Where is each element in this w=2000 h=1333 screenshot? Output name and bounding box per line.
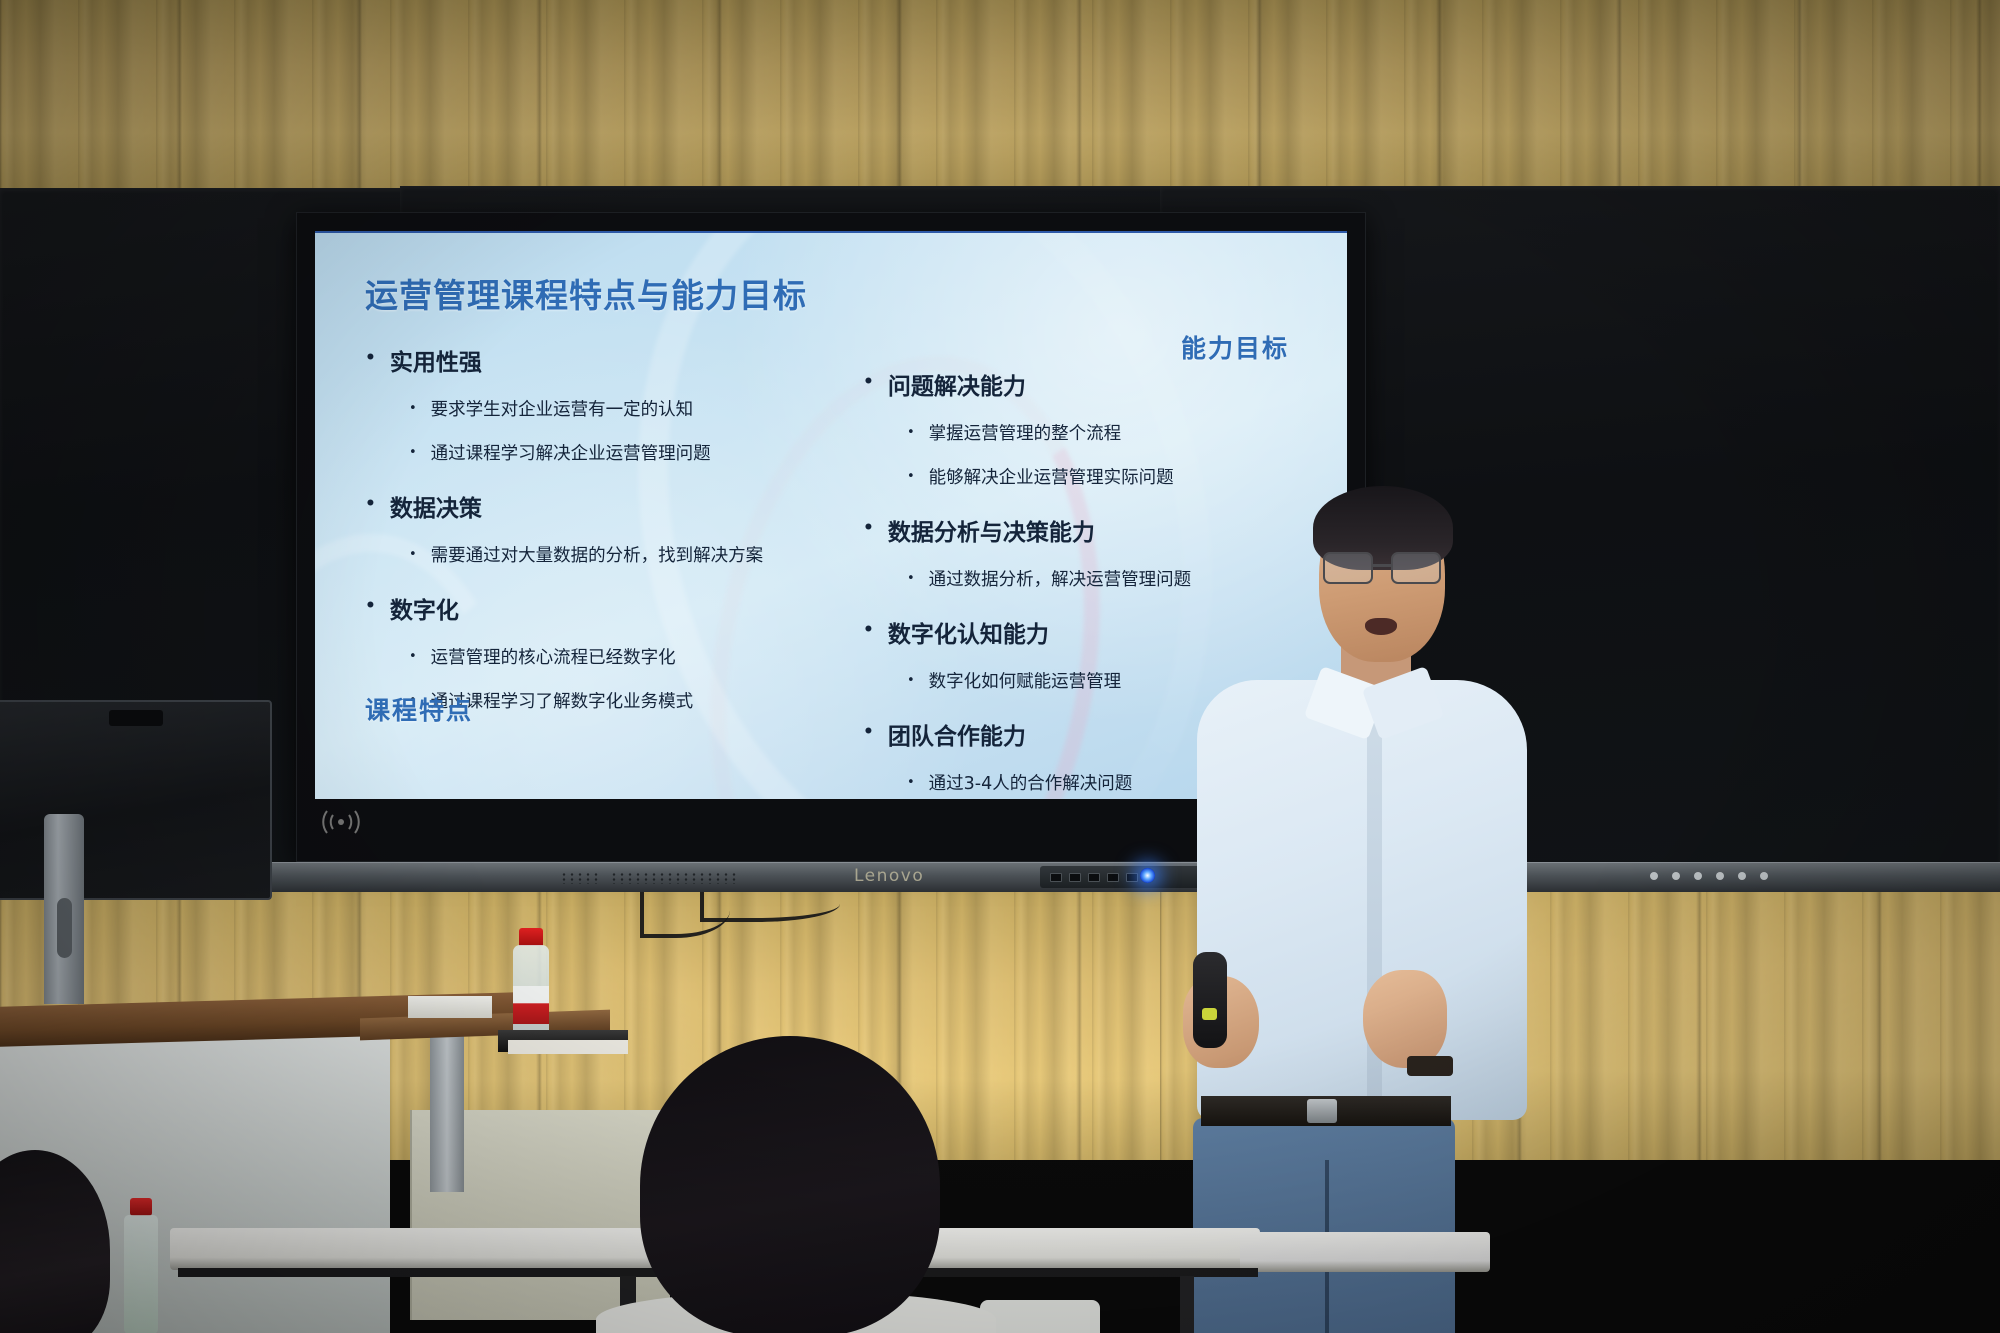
bullet-level2: • 能够解决企业运营管理实际问题 <box>907 464 1307 489</box>
bullet-dot-icon: • <box>907 420 915 445</box>
bullet-dot-icon: • <box>863 615 874 649</box>
bullet-dot-icon: • <box>365 591 376 625</box>
usb-port[interactable] <box>1050 873 1062 882</box>
glasses-bridge <box>1373 564 1393 567</box>
status-dot <box>1672 872 1680 880</box>
aux-port[interactable] <box>1126 873 1138 882</box>
bullet-dot-icon: • <box>907 566 915 591</box>
belt-buckle <box>1307 1099 1337 1123</box>
bullet-level2: • 运营管理的核心流程已经数字化 <box>409 644 809 669</box>
bullet-level1: • 实用性强 <box>365 343 809 377</box>
presentation-slide[interactable]: 运营管理课程特点与能力目标 • 实用性强 • 要求学生对企业运营有一定的认知 <box>315 231 1347 799</box>
status-dot <box>1694 872 1702 880</box>
status-dot <box>1760 872 1768 880</box>
bullet-text: 能够解决企业运营管理实际问题 <box>929 464 1174 489</box>
eraser-box[interactable] <box>408 996 492 1018</box>
desk-leg <box>1180 1276 1194 1333</box>
bullet-level1: • 问题解决能力 <box>863 367 1307 401</box>
bullet-level1: • 数据决策 <box>365 489 809 523</box>
bullet-text: 数据决策 <box>390 489 482 523</box>
chair-backrest <box>980 1300 1100 1333</box>
water-bottle[interactable] <box>510 928 552 1036</box>
power-led-indicator <box>1140 868 1155 883</box>
presentation-clicker[interactable] <box>1193 952 1227 1048</box>
status-dot <box>1650 872 1658 880</box>
status-dot <box>1738 872 1746 880</box>
bullet-level2: • 需要通过对大量数据的分析，找到解决方案 <box>409 542 809 567</box>
student-head-center <box>640 1036 940 1333</box>
bullet-dot-icon: • <box>409 396 417 421</box>
bullet-text: 通过数据分析，解决运营管理问题 <box>929 566 1192 591</box>
presenter-hand-right <box>1363 970 1447 1068</box>
bullet-text: 数字化认知能力 <box>888 615 1049 649</box>
bullet-dot-icon: • <box>409 440 417 465</box>
slide-column-course-features: • 实用性强 • 要求学生对企业运营有一定的认知 • 通过课程学习解决企业运营管… <box>365 343 827 779</box>
bullet-dot-icon: • <box>365 489 376 523</box>
bullet-level2: • 通过课程学习解决企业运营管理问题 <box>409 440 809 465</box>
lenovo-brand-logo: Lenovo <box>854 866 924 886</box>
cable-routing-slot <box>57 898 72 958</box>
bullet-dot-icon: • <box>863 367 874 401</box>
display-port-strip[interactable] <box>1040 866 1220 888</box>
bullet-text: 需要通过对大量数据的分析，找到解决方案 <box>431 542 764 567</box>
bullet-text: 团队合作能力 <box>888 717 1026 751</box>
lens-right <box>1391 552 1441 584</box>
clicker-button[interactable] <box>1202 1008 1217 1020</box>
slide-content: 运营管理课程特点与能力目标 • 实用性强 • 要求学生对企业运营有一定的认知 <box>315 233 1347 799</box>
wood-wall-upper <box>0 0 2000 190</box>
bullet-dot-icon: • <box>409 644 417 669</box>
wireless-nfc-icon <box>321 807 361 837</box>
bullet-level2: • 要求学生对企业运营有一定的认知 <box>409 396 809 421</box>
podium-leg <box>430 1032 464 1192</box>
bullet-text: 通过课程学习解决企业运营管理问题 <box>431 440 711 465</box>
bottle-label <box>513 986 549 1024</box>
speaker-vent <box>610 872 740 884</box>
lens-left <box>1323 552 1373 584</box>
bullet-level1: • 数字化 <box>365 591 809 625</box>
speaker-vent <box>560 872 600 884</box>
bullet-dot-icon: • <box>907 464 915 489</box>
bullet-text: 问题解决能力 <box>888 367 1026 401</box>
bullet-text: 要求学生对企业运营有一定的认知 <box>431 396 694 421</box>
bullet-level2: • 掌握运营管理的整个流程 <box>907 420 1307 445</box>
bottle-cap <box>130 1198 152 1216</box>
section-tag-ability-goals: 能力目标 <box>1181 329 1289 365</box>
bullet-dot-icon: • <box>863 513 874 547</box>
hdmi-port[interactable] <box>1088 873 1100 882</box>
section-tag-course-features: 课程特点 <box>365 691 473 727</box>
bullet-dot-icon: • <box>365 343 376 377</box>
bottle-body <box>124 1215 158 1333</box>
bullet-dot-icon: • <box>863 717 874 751</box>
presenter-trousers <box>1193 1118 1455 1333</box>
paper-sheet <box>508 1040 628 1054</box>
usb-port[interactable] <box>1069 873 1081 882</box>
bullet-text: 实用性强 <box>390 343 482 377</box>
bullet-text: 运营管理的核心流程已经数字化 <box>431 644 676 669</box>
glasses-icon <box>1321 552 1449 586</box>
presenter <box>1215 500 1535 1333</box>
wristwatch <box>1407 1056 1453 1076</box>
student-desk <box>1240 1232 1490 1272</box>
bullet-dot-icon: • <box>907 770 915 795</box>
bullet-dot-icon: • <box>409 542 417 567</box>
slide-columns: • 实用性强 • 要求学生对企业运营有一定的认知 • 通过课程学习解决企业运营管… <box>365 343 1307 779</box>
bullet-text: 掌握运营管理的整个流程 <box>929 420 1122 445</box>
audio-port[interactable] <box>1107 873 1119 882</box>
bullet-text: 通过3-4人的合作解决问题 <box>929 770 1133 795</box>
status-dot <box>1716 872 1724 880</box>
student-water-bottle <box>124 1198 158 1333</box>
monitor-stand <box>44 814 84 1004</box>
webcam-icon <box>109 710 163 726</box>
classroom-photo: 运营管理课程特点与能力目标 • 实用性强 • 要求学生对企业运营有一定的认知 <box>0 0 2000 1333</box>
bullet-dot-icon: • <box>907 668 915 693</box>
podium-monitor[interactable] <box>0 700 272 900</box>
presenter-mouth <box>1365 618 1397 635</box>
bullet-text: 数据分析与决策能力 <box>888 513 1095 547</box>
chalk-tray-status-dots <box>1650 872 1768 880</box>
bullet-text: 数字化 <box>390 591 459 625</box>
slide-title: 运营管理课程特点与能力目标 <box>365 269 1307 317</box>
bullet-text: 数字化如何赋能运营管理 <box>929 668 1122 693</box>
bottle-cap <box>519 928 543 946</box>
